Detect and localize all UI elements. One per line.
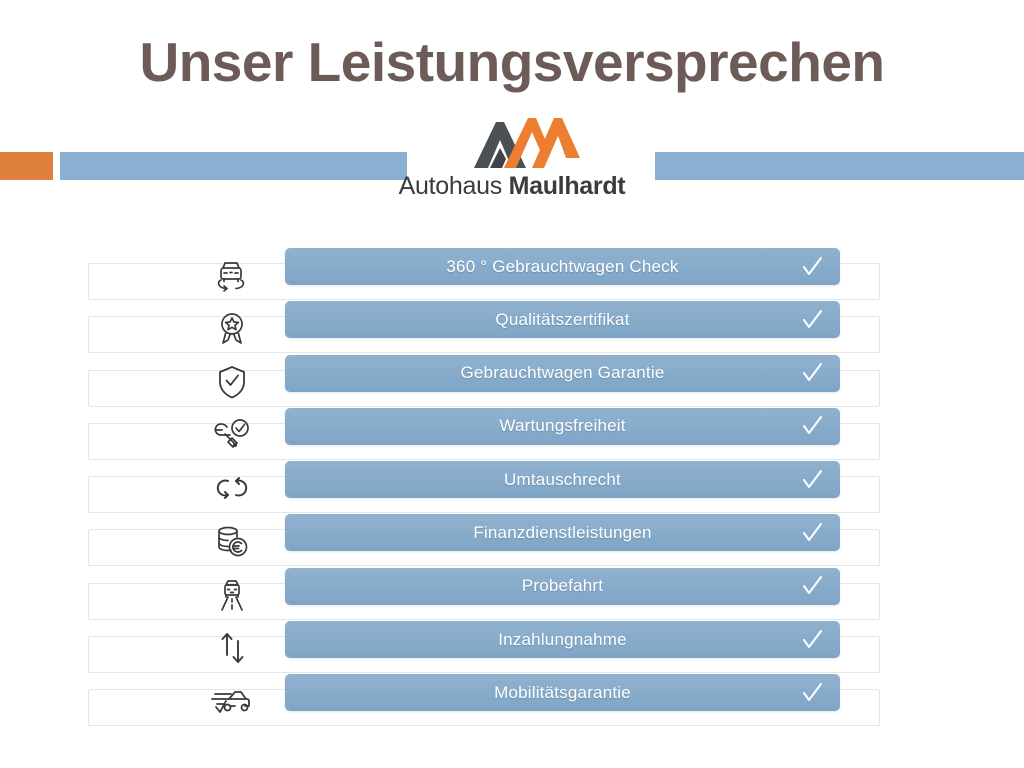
list-item[interactable]: Umtauschrecht (0, 461, 1024, 514)
arrows-up-down-icon (206, 623, 258, 673)
promise-label: Mobilitätsgarantie (494, 683, 631, 703)
promise-pill[interactable]: Umtauschrecht (285, 461, 840, 498)
promise-label: Umtauschrecht (504, 470, 621, 490)
list-item[interactable]: Wartungsfreiheit (0, 408, 1024, 461)
accent-bar-orange (0, 152, 53, 180)
car-360-rotation-icon (206, 250, 258, 300)
promise-label: Qualitätszertifikat (495, 310, 629, 330)
shield-check-icon (206, 357, 258, 407)
am-monogram-icon (444, 112, 580, 170)
promise-pill[interactable]: Mobilitätsgarantie (285, 674, 840, 711)
list-item[interactable]: Gebrauchtwagen Garantie (0, 355, 1024, 408)
page-title: Unser Leistungsversprechen (0, 34, 1024, 92)
brand-name: Autohaus Maulhardt (362, 172, 662, 201)
promise-pill[interactable]: Inzahlungnahme (285, 621, 840, 658)
coins-euro-icon (206, 516, 258, 566)
car-speed-check-icon (206, 676, 258, 726)
check-mark-icon (800, 574, 824, 598)
promise-pill[interactable]: Probefahrt (285, 568, 840, 605)
list-item[interactable]: Inzahlungnahme (0, 621, 1024, 674)
promise-label: Probefahrt (522, 576, 603, 596)
promise-list: 360 ° Gebrauchtwagen Check Qualitätszert… (0, 248, 1024, 728)
promise-pill[interactable]: 360 ° Gebrauchtwagen Check (285, 248, 840, 285)
promise-label: Finanzdienstleistungen (473, 523, 651, 543)
promise-pill[interactable]: Finanzdienstleistungen (285, 514, 840, 551)
slide-canvas: Unser Leistungsversprechen Autohaus Maul… (0, 0, 1024, 768)
promise-pill[interactable]: Gebrauchtwagen Garantie (285, 355, 840, 392)
list-item[interactable]: Probefahrt (0, 568, 1024, 621)
check-mark-icon (800, 681, 824, 705)
exchange-arrows-icon (206, 463, 258, 513)
check-mark-icon (800, 255, 824, 279)
car-road-icon (206, 570, 258, 620)
check-mark-icon (800, 468, 824, 492)
accent-bar-blue-left (60, 152, 407, 180)
check-mark-icon (800, 521, 824, 545)
promise-pill[interactable]: Qualitätszertifikat (285, 301, 840, 338)
brand-logo: Autohaus Maulhardt (362, 112, 662, 201)
list-item[interactable]: Finanzdienstleistungen (0, 514, 1024, 567)
check-mark-icon (800, 414, 824, 438)
award-medal-star-icon (206, 303, 258, 353)
promise-label: Inzahlungnahme (498, 630, 627, 650)
promise-label: Wartungsfreiheit (499, 416, 625, 436)
brand-name-light: Autohaus (399, 172, 502, 200)
list-item[interactable]: Mobilitätsgarantie (0, 674, 1024, 727)
promise-pill[interactable]: Wartungsfreiheit (285, 408, 840, 445)
list-item[interactable]: Qualitätszertifikat (0, 301, 1024, 354)
check-mark-icon (800, 361, 824, 385)
list-item[interactable]: 360 ° Gebrauchtwagen Check (0, 248, 1024, 301)
promise-label: 360 ° Gebrauchtwagen Check (446, 257, 678, 277)
brand-name-bold: Maulhardt (509, 172, 626, 200)
accent-bar-blue-right (655, 152, 1024, 180)
check-mark-icon (800, 628, 824, 652)
wrench-check-icon (206, 410, 258, 460)
promise-label: Gebrauchtwagen Garantie (460, 363, 664, 383)
check-mark-icon (800, 308, 824, 332)
